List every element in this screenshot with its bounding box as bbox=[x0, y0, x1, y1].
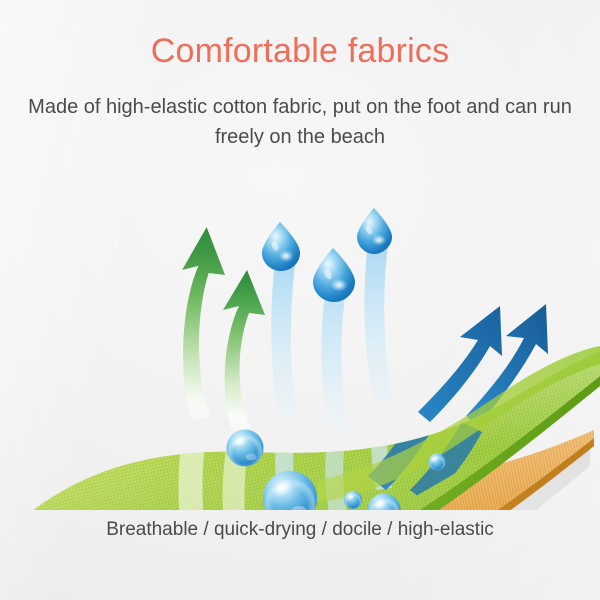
airflow-arrows-group bbox=[182, 227, 265, 431]
airflow-arrow-2 bbox=[223, 270, 265, 431]
airflow-arrow-1 bbox=[182, 227, 225, 420]
rising-droplet-1 bbox=[262, 222, 300, 271]
evaporating-droplets-group bbox=[262, 208, 392, 432]
feature-caption: Breathable / quick-drying / docile / hig… bbox=[0, 517, 600, 543]
water-bead-8 bbox=[429, 454, 446, 471]
fabric-feature-poster: Comfortable fabrics Made of high-elastic… bbox=[0, 0, 600, 600]
rising-droplet-2 bbox=[313, 248, 355, 302]
rising-droplet-3 bbox=[357, 208, 392, 254]
page-title: Comfortable fabrics bbox=[0, 30, 600, 72]
water-bead-7 bbox=[344, 491, 362, 509]
fabric-illustration bbox=[0, 180, 600, 510]
droplet-trail-3 bbox=[364, 228, 392, 404]
page-subtitle: Made of high-elastic cotton fabric, put … bbox=[26, 92, 574, 152]
